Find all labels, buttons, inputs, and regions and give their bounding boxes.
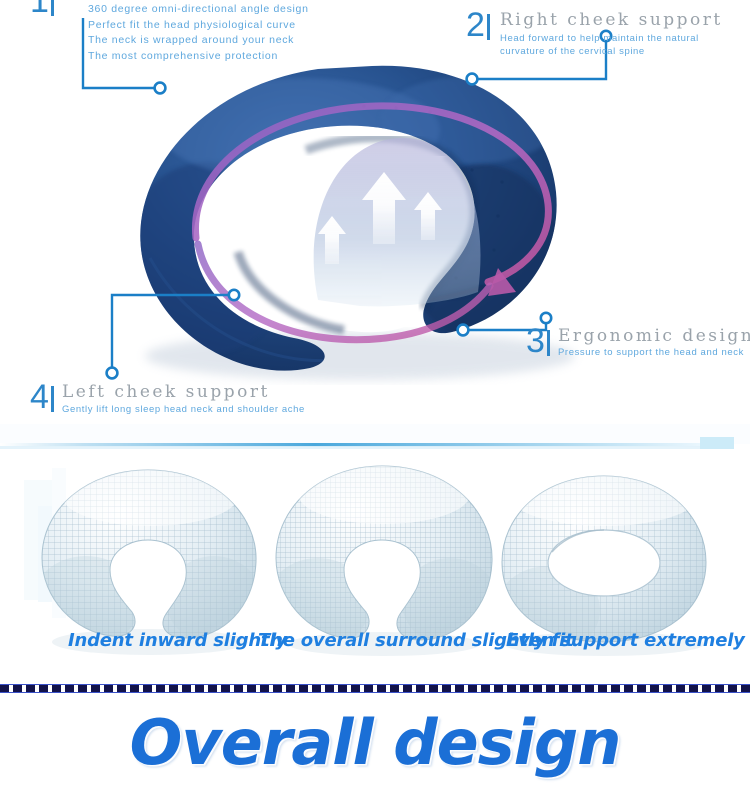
overall-design-banner: Overall design xyxy=(0,684,750,800)
banner-title: Overall design xyxy=(0,706,750,779)
callout-1-line-3: The neck is wrapped around your neck xyxy=(88,33,309,49)
wireframe-caption-1: Indent inward slightly xyxy=(68,630,287,651)
wireframe-caption-3: Even support extremely xyxy=(506,630,745,651)
divider-end-block xyxy=(700,437,734,449)
infographic-page: 1 360 degree omni-directional angle desi… xyxy=(0,0,750,800)
callout-1-lines: 360 degree omni-directional angle design… xyxy=(88,2,309,64)
callout-1-line-4: The most comprehensive protection xyxy=(88,49,309,65)
leader-line-4 xyxy=(112,295,234,373)
callout-4: 4 Left cheek support Gently lift long sl… xyxy=(30,382,54,412)
callout-3-number: 3 xyxy=(526,326,550,356)
leader-endpoint-4 xyxy=(107,368,118,379)
leader-lines xyxy=(0,0,750,432)
wireframe-model-2 xyxy=(266,456,506,656)
callout-3-subtitle: Pressure to support the head and neck xyxy=(558,346,744,359)
leader-endpoint-1 xyxy=(155,83,166,94)
callout-1-number: 1 xyxy=(30,0,54,16)
callout-2-title: Right cheek support xyxy=(500,10,723,30)
dashed-divider xyxy=(0,684,750,693)
callout-2-sub-line-2: curvature of the cervical spine xyxy=(500,45,699,58)
callout-1: 1 xyxy=(30,0,54,16)
callout-2: 2 Right cheek support Head forward to he… xyxy=(466,10,490,40)
callout-4-number: 4 xyxy=(30,382,54,412)
leader-endpoint-3 xyxy=(458,325,469,336)
callout-2-number: 2 xyxy=(466,10,490,40)
leader-anchor-4 xyxy=(229,290,239,300)
callout-2-subtitle: Head forward to help maintain the natura… xyxy=(500,32,699,58)
callout-1-line-2: Perfect fit the head physiological curve xyxy=(88,18,309,34)
callout-1-line-1: 360 degree omni-directional angle design xyxy=(88,2,309,18)
callout-3-title: Ergonomic design xyxy=(558,326,750,346)
callout-3: 3 Ergonomic design Pressure to support t… xyxy=(526,326,550,356)
callout-2-sub-line-1: Head forward to help maintain the natura… xyxy=(500,32,699,45)
leader-endpoint-2 xyxy=(467,74,478,85)
callout-4-title: Left cheek support xyxy=(62,382,270,402)
callout-4-subtitle: Gently lift long sleep head neck and sho… xyxy=(62,403,305,416)
wireframe-model-3 xyxy=(494,468,716,656)
hero-callout-section: 1 360 degree omni-directional angle desi… xyxy=(0,0,750,432)
